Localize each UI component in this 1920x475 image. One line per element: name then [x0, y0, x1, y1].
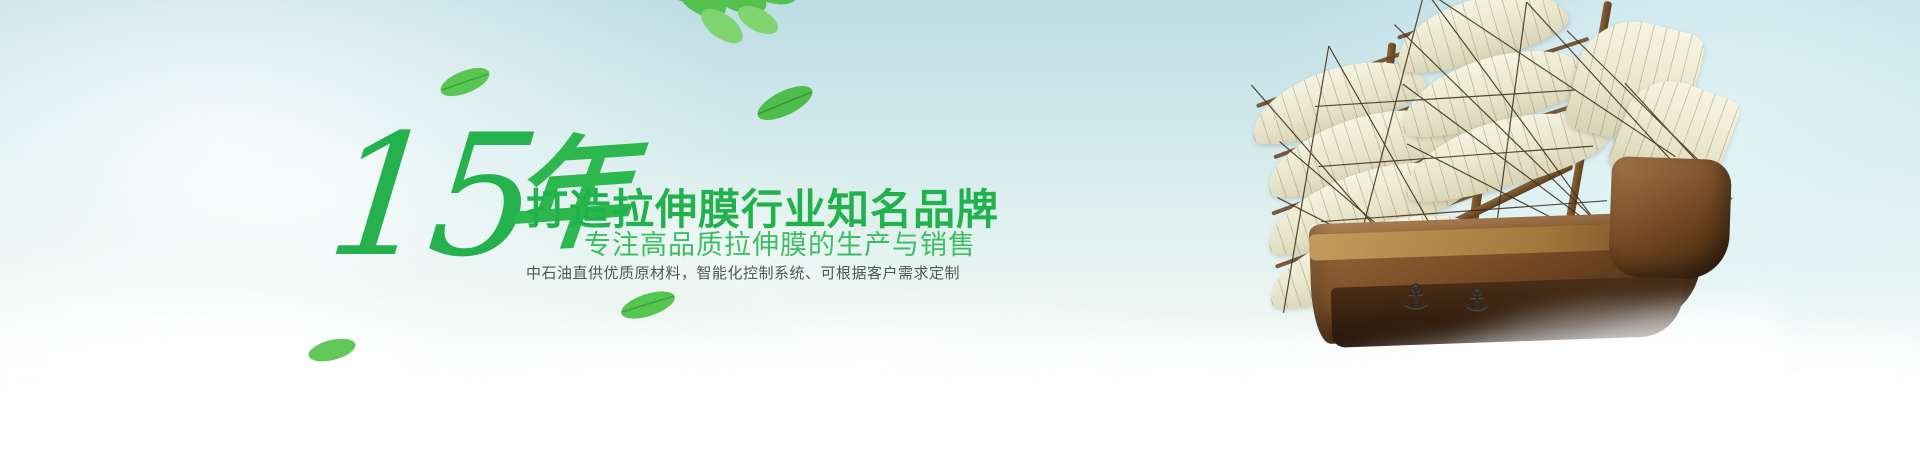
promo-banner: ⚓ ⚓ 15 年 打造拉伸膜行业知名品牌 专注高品质拉伸膜的生产与销售 中石油直…: [0, 0, 1920, 475]
years-number: 15: [321, 112, 540, 280]
banner-subheadline: 专注高品质拉伸膜的生产与销售: [584, 223, 976, 262]
years-badge: 15 年: [330, 112, 532, 280]
banner-tagline: 中石油直供优质原材料，智能化控制系统、可根据客户需求定制: [526, 262, 960, 283]
banner-copy: 15 年 打造拉伸膜行业知名品牌 专注高品质拉伸膜的生产与销售 中石油直供优质原…: [0, 0, 1920, 475]
